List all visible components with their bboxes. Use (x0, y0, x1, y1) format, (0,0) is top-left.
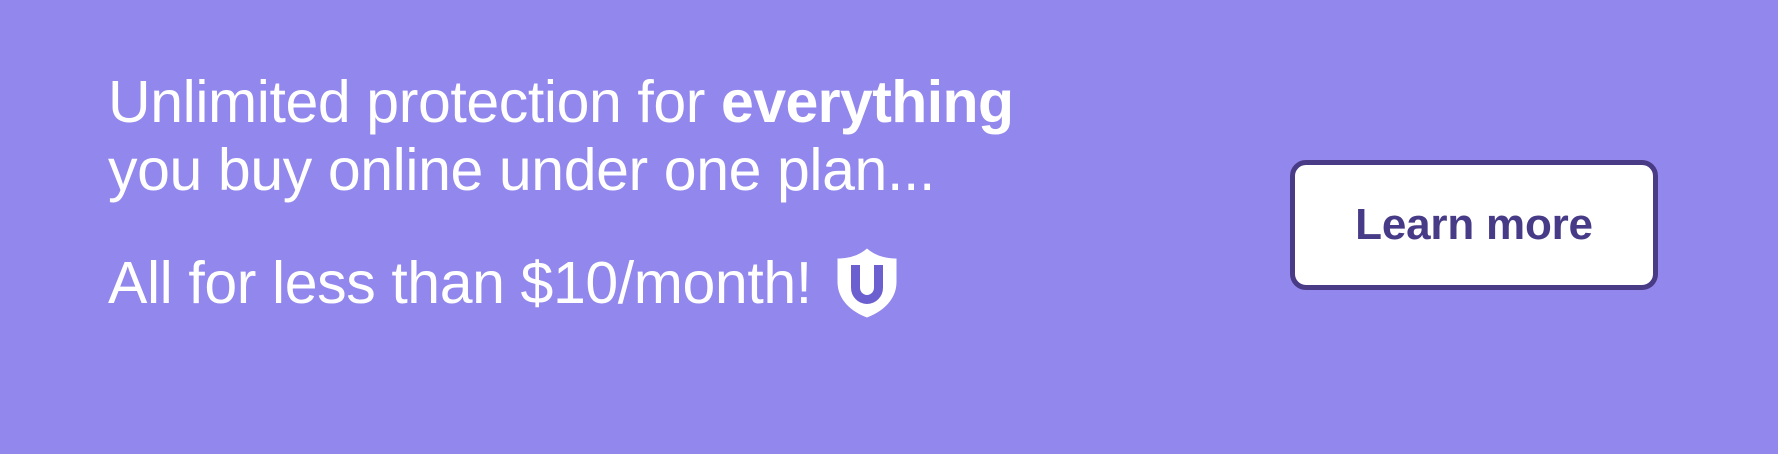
subline-row: All for less than $10/month! (108, 248, 1128, 318)
banner-copy-block: Unlimited protection for everything you … (108, 68, 1128, 318)
headline-line-1: Unlimited protection for everything (108, 68, 1128, 136)
promo-banner: Unlimited protection for everything you … (0, 0, 1778, 454)
learn-more-button-label: Learn more (1355, 200, 1593, 250)
shield-logo-icon (836, 248, 898, 318)
headline-bold-text: everything (721, 69, 1013, 135)
headline-line-2: you buy online under one plan... (108, 136, 1128, 204)
subline-text: All for less than $10/month! (108, 251, 812, 315)
bottom-edge-strip (0, 454, 1778, 458)
headline-light-text: Unlimited protection for (108, 69, 721, 135)
headline-line-2-text: you buy online under one plan... (108, 137, 935, 203)
learn-more-button[interactable]: Learn more (1290, 160, 1658, 290)
